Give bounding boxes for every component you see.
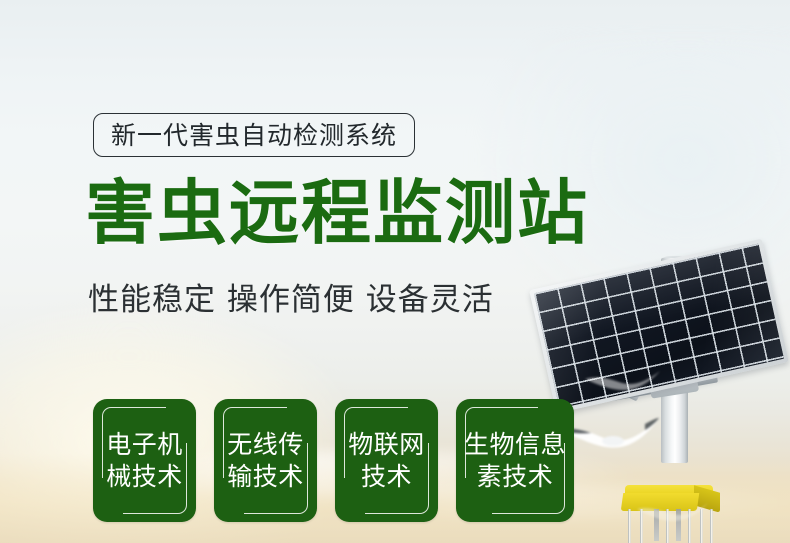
- feature-tag-list: 电子机 械技术 无线传 输技术 物联网 技术 生物信息 素技术: [93, 399, 574, 522]
- feature-tag[interactable]: 物联网 技术: [335, 399, 438, 522]
- feature-tag-label: 物联网 技术: [348, 429, 425, 493]
- promo-banner: 新一代害虫自动检测系统 害虫远程监测站 性能稳定 操作简便 设备灵活 电子机 械…: [0, 0, 790, 543]
- tagline-badge: 新一代害虫自动检测系统: [93, 113, 415, 157]
- feature-tag-label: 无线传 输技术: [227, 429, 304, 493]
- tagline-badge-label: 新一代害虫自动检测系统: [111, 123, 397, 148]
- feature-tag-label: 电子机 械技术: [106, 429, 183, 493]
- feature-tag[interactable]: 电子机 械技术: [93, 399, 196, 522]
- feature-tag[interactable]: 无线传 输技术: [214, 399, 317, 522]
- feature-tag[interactable]: 生物信息 素技术: [456, 399, 574, 522]
- feature-tag-label: 生物信息 素技术: [464, 429, 566, 493]
- page-title: 害虫远程监测站: [85, 176, 589, 252]
- page-subtitle: 性能稳定 操作简便 设备灵活: [88, 283, 494, 317]
